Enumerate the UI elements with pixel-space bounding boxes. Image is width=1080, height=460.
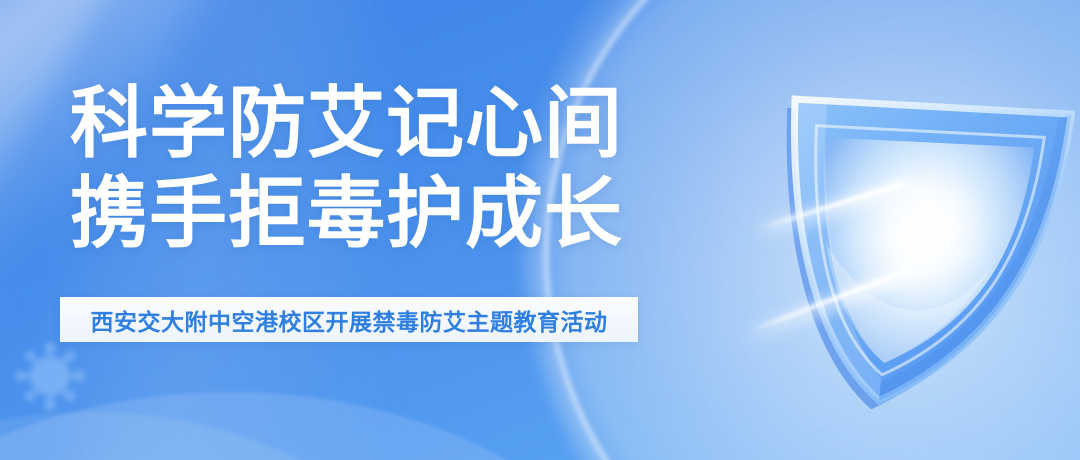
subtitle-text: 西安交大附中空港校区开展禁毒防艾主题教育活动	[91, 303, 608, 337]
light-burst-secondary-icon	[738, 263, 920, 344]
virus-icon	[2, 328, 98, 424]
light-arc-decoration	[545, 0, 1080, 460]
sparkle-core-decoration	[838, 168, 998, 328]
light-arc-secondary-decoration	[575, 0, 1080, 460]
subtitle-panel: 西安交大附中空港校区开展禁毒防艾主题教育活动	[60, 297, 638, 342]
headline-line-1: 科学防艾记心间	[70, 78, 623, 168]
headline-line-2: 携手拒毒护成长	[70, 168, 623, 258]
shield-icon	[690, 60, 1080, 440]
light-burst-icon	[747, 178, 914, 241]
light-ray-lower	[748, 268, 909, 334]
light-ray-upper	[758, 182, 903, 231]
wave-decoration	[0, 392, 640, 460]
shield-graphic	[690, 60, 1080, 440]
headline: 科学防艾记心间 携手拒毒护成长	[70, 78, 623, 258]
wave-decoration-back	[0, 412, 440, 460]
promo-banner: 科学防艾记心间 携手拒毒护成长 西安交大附中空港校区开展禁毒防艾主题教育活动	[0, 0, 1080, 460]
light-arc-halo-decoration	[545, 0, 1080, 460]
